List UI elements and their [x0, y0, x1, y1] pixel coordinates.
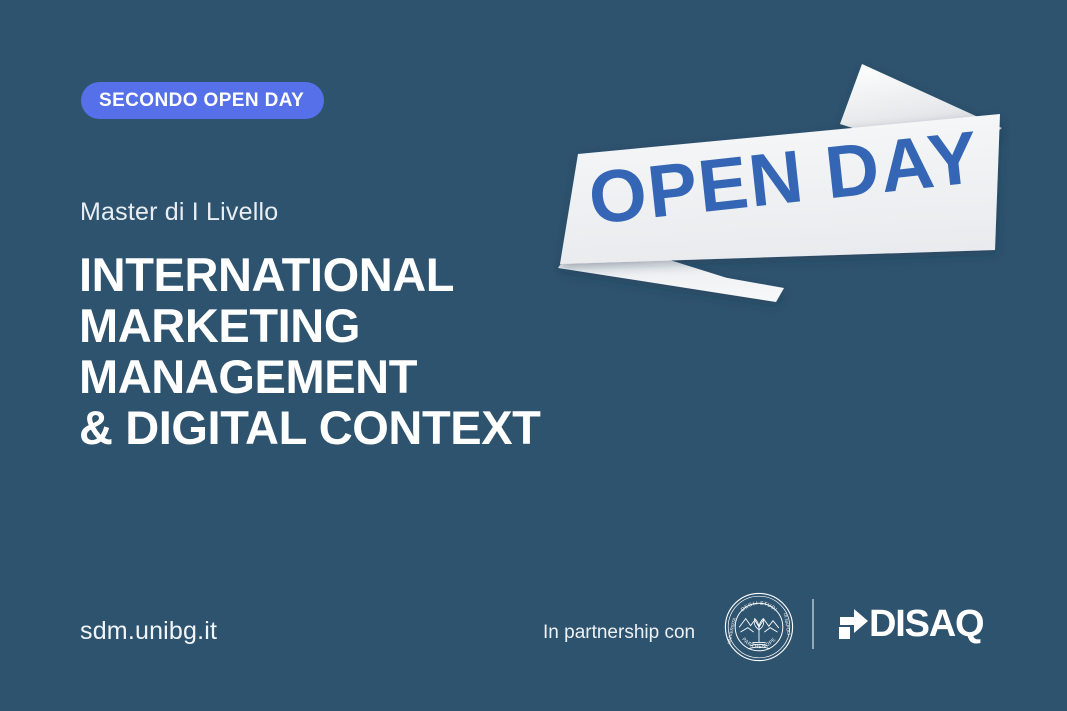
svg-text:DI NAPOLI: DI NAPOLI: [783, 613, 792, 636]
title-line-3: MANAGEMENT: [79, 351, 540, 402]
title-line-1: INTERNATIONAL: [79, 249, 540, 300]
disaq-wordmark: DISAQ: [869, 603, 983, 645]
badge-label: SECONDO OPEN DAY: [99, 90, 304, 112]
course-level-label: Master di I Livello: [80, 198, 278, 227]
partnership-label: In partnership con: [543, 622, 695, 644]
open-day-ribbon: OPEN DAY: [540, 50, 1020, 320]
open-day-poster: SECONDO OPEN DAY: [0, 0, 1067, 711]
svg-text:DEGLI STUDI: DEGLI STUDI: [740, 601, 778, 613]
arrow-square-icon: [839, 609, 868, 639]
status-badge: SECONDO OPEN DAY: [81, 82, 324, 119]
title-line-4: & DIGITAL CONTEXT: [79, 402, 540, 453]
disaq-logo: DISAQ: [838, 599, 1002, 647]
page-title: INTERNATIONAL MARKETING MANAGEMENT & DIG…: [79, 249, 540, 453]
title-line-2: MARKETING: [79, 300, 540, 351]
website-url[interactable]: sdm.unibg.it: [80, 617, 217, 646]
footer-divider: [812, 599, 814, 649]
universita-parthenope-seal-icon: DEGLI STUDI PARTHENOPE UNIVERSITA DI NAP…: [724, 592, 794, 662]
